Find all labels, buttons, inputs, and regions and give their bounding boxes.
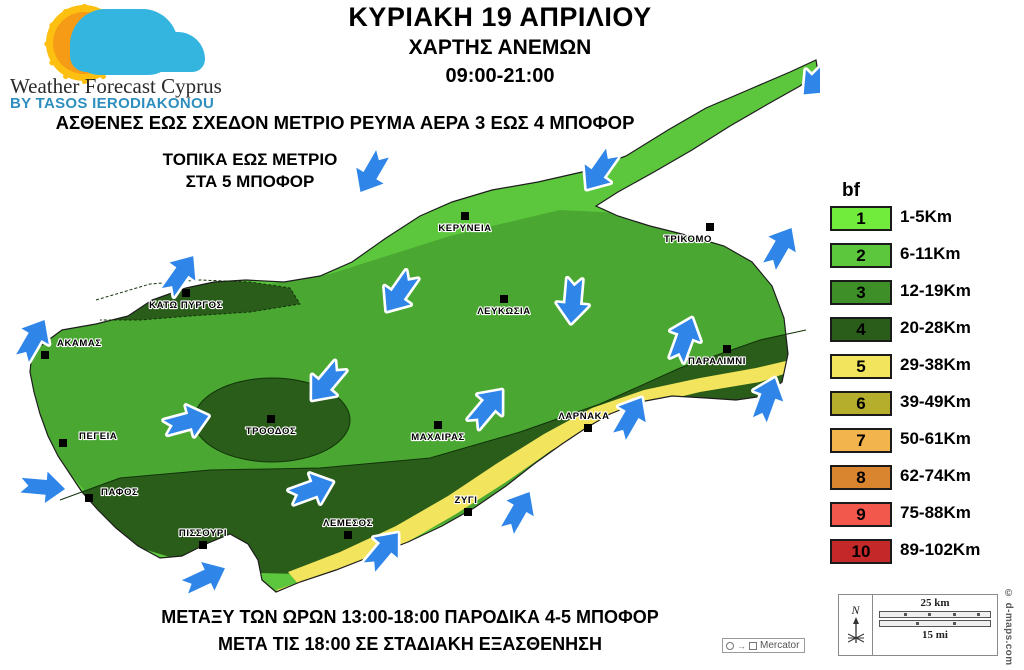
- city-dot-icon: [344, 531, 352, 539]
- city-dot-icon: [500, 295, 508, 303]
- legend-swatch-bf-1: 1: [830, 206, 892, 231]
- legend-range-label: 6-11Km: [900, 244, 960, 264]
- city-label: ΚΑΤΩ ΠΥΡΓΟΣ: [149, 300, 223, 311]
- city-label: ΠΑΡΑΛΙΜΝΙ: [688, 356, 746, 367]
- legend-row: 529-38Km: [822, 354, 1022, 381]
- legend-range-label: 12-19Km: [900, 281, 971, 301]
- arrow-right-icon: →: [737, 641, 746, 651]
- north-letter: N: [851, 604, 859, 616]
- scale-bar-box: N 25 km 15 mi: [838, 594, 998, 656]
- projection-label: Mercator: [760, 640, 799, 651]
- legend-swatch-bf-3: 3: [830, 280, 892, 305]
- legend-range-label: 39-49Km: [900, 392, 971, 412]
- city-label: ΤΡΙΚΟΜΟ: [664, 234, 712, 245]
- time-range-label: 09:00-21:00: [300, 65, 700, 88]
- city-dot-icon: [706, 223, 714, 231]
- city-dot-icon: [584, 424, 592, 432]
- wind-forecast-map-page: ΡΙΖΟΚΑΡΠΑΣΟΚΕΡΥΝΕΙΑΤΡΙΚΟΜΟΚΑΤΩ ΠΥΡΓΟΣΛΕΥ…: [0, 0, 1024, 670]
- plane-icon: [749, 642, 757, 650]
- city-label: ΚΕΡΥΝΕΙΑ: [438, 223, 491, 234]
- legend-range-label: 75-88Km: [900, 503, 971, 523]
- city-label: ΤΡΟΟΔΟΣ: [246, 426, 297, 437]
- scale-km-label: 25 km: [879, 597, 991, 609]
- legend-swatch-bf-5: 5: [830, 354, 892, 379]
- city-label: ΠΙΣΣΟΥΡΙ: [179, 528, 227, 539]
- city-dot-icon: [434, 421, 442, 429]
- city-label: ΜΑΧΑΙΡΑΣ: [411, 432, 465, 443]
- city-label: ΠΕΓΕΙΑ: [79, 431, 117, 442]
- globe-icon: [726, 642, 734, 650]
- legend-range-label: 62-74Km: [900, 466, 971, 486]
- forecast-subhead-line2: ΣΤΑ 5 ΜΠΟΦΟΡ: [0, 172, 500, 192]
- legend-swatch-bf-4: 4: [830, 317, 892, 342]
- legend-row: 420-28Km: [822, 317, 1022, 344]
- map-attribution: © d-maps.com: [1003, 588, 1014, 665]
- legend-swatch-bf-10: 10: [830, 539, 892, 564]
- legend-range-label: 1-5Km: [900, 207, 952, 227]
- legend-swatch-bf-2: 2: [830, 243, 892, 268]
- logo-subtitle: BY TASOS IERODIAKONOU: [10, 95, 232, 112]
- legend-row: 639-49Km: [822, 391, 1022, 418]
- legend-row: 862-74Km: [822, 465, 1022, 492]
- legend-swatch-bf-9: 9: [830, 502, 892, 527]
- scale-mi-label: 15 mi: [879, 629, 991, 641]
- forecast-footer-line2: ΜΕΤΑ ΤΙΣ 18:00 ΣΕ ΣΤΑΔΙΑΚΗ ΕΞΑΣΘΕΝΗΣΗ: [60, 634, 760, 655]
- city-marker: ΤΡΙΚΟΜΟ: [664, 223, 714, 245]
- wind-arrow-icon: [178, 554, 231, 601]
- city-label: ΛΑΡΝΑΚΑ: [558, 411, 609, 422]
- legend-range-label: 29-38Km: [900, 355, 971, 375]
- city-dot-icon: [267, 415, 275, 423]
- brand-logo: Weather Forecast Cyprus BY TASOS IERODIA…: [8, 4, 233, 112]
- city-label: ΑΚΑΜΑΣ: [57, 338, 102, 349]
- scale-bar-mi: [879, 620, 991, 627]
- city-label: ΛΕΜΕΣΟΣ: [323, 518, 373, 529]
- forecast-footer-line1: ΜΕΤΑΞΥ ΤΩΝ ΩΡΩΝ 13:00-18:00 ΠΑΡΟΔΙΚΑ 4-5…: [60, 607, 760, 628]
- compass-icon: [846, 616, 866, 646]
- forecast-headline: ΑΣΘΕΝΕΣ ΕΩΣ ΣΧΕΔΟΝ ΜΕΤΡΙΟ ΡΕΥΜΑ ΑΕΡΑ 3 Ε…: [0, 112, 690, 134]
- city-dot-icon: [199, 541, 207, 549]
- legend-row: 11-5Km: [822, 206, 1022, 233]
- city-dot-icon: [464, 508, 472, 516]
- wind-arrow-icon: [494, 484, 543, 538]
- page-subtitle: ΧΑΡΤΗΣ ΑΝΕΜΩΝ: [300, 36, 700, 60]
- city-dot-icon: [59, 439, 67, 447]
- forecast-subhead-line1: ΤΟΠΙΚΑ ΕΩΣ ΜΕΤΡΙΟ: [0, 150, 500, 170]
- legend-swatch-bf-8: 8: [830, 465, 892, 490]
- city-dot-icon: [723, 345, 731, 353]
- wind-arrow-icon: [20, 469, 67, 504]
- legend-range-label: 20-28Km: [900, 318, 971, 338]
- legend-range-label: 50-61Km: [900, 429, 971, 449]
- city-dot-icon: [85, 494, 93, 502]
- cloud-icon-base: [70, 42, 178, 72]
- legend-range-label: 89-102Km: [900, 540, 980, 560]
- legend-row: 975-88Km: [822, 502, 1022, 529]
- city-dot-icon: [182, 289, 190, 297]
- city-label: ΠΑΦΟΣ: [101, 487, 138, 498]
- city-dot-icon: [41, 351, 49, 359]
- beaufort-legend: bf 11-5Km26-11Km312-19Km420-28Km529-38Km…: [822, 180, 1022, 580]
- legend-row: 750-61Km: [822, 428, 1022, 455]
- projection-badge: → Mercator: [722, 638, 805, 653]
- legend-row: 26-11Km: [822, 243, 1022, 270]
- city-label: ΛΕΥΚΩΣΙΑ: [477, 306, 531, 317]
- city-label: ΖΥΓΙ: [455, 495, 478, 506]
- scale-bar-km: [879, 611, 991, 618]
- wind-arrow-icon: [756, 220, 805, 274]
- scale-bars: 25 km 15 mi: [873, 595, 997, 655]
- legend-swatch-bf-6: 6: [830, 391, 892, 416]
- legend-swatch-bf-7: 7: [830, 428, 892, 453]
- legend-row: 1089-102Km: [822, 539, 1022, 566]
- page-title: ΚΥΡΙΑΚΗ 19 ΑΠΡΙΛΙΟΥ: [300, 2, 700, 33]
- legend-title: bf: [842, 180, 860, 202]
- north-arrow: N: [839, 595, 873, 655]
- legend-row: 312-19Km: [822, 280, 1022, 307]
- city-dot-icon: [461, 212, 469, 220]
